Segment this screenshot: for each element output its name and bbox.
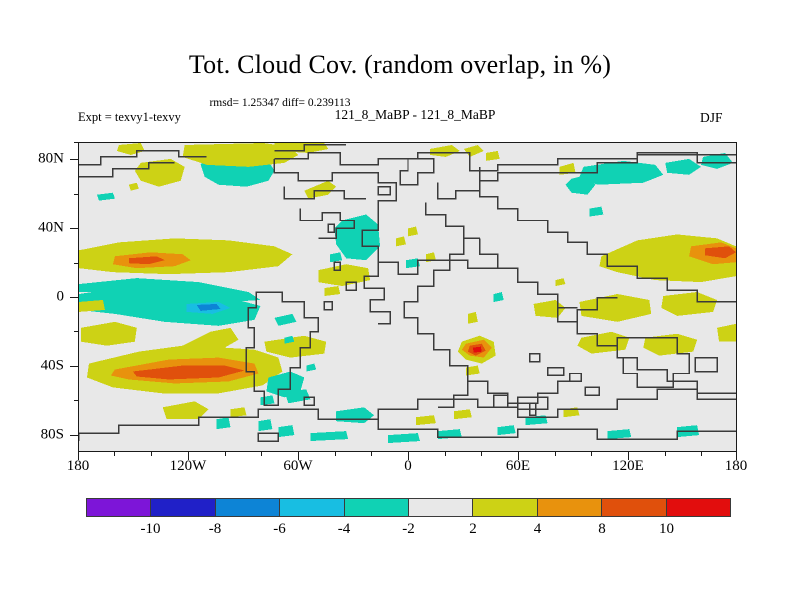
y-tick-label-40n: 40N (20, 220, 64, 237)
experiment-label: Expt = texvy1-texvy (78, 110, 181, 125)
x-tick-label-0: 0 (404, 458, 412, 475)
colorbar-segment-5 (409, 499, 473, 516)
colorbar-label-n4: -4 (338, 521, 351, 538)
colorbar-segment-4 (345, 499, 409, 516)
colorbar-segment-0 (87, 499, 151, 516)
colorbar-segment-9 (667, 499, 730, 516)
colorbar-segment-6 (473, 499, 537, 516)
colorbar-segment-3 (280, 499, 344, 516)
colorbar-label-n2: -2 (402, 521, 415, 538)
x-tick-label-60w: 60W (283, 458, 312, 475)
colorbar-label-p4: 4 (534, 521, 542, 538)
y-tick-label-80n: 80N (20, 151, 64, 168)
x-tick-label-60e: 60E (506, 458, 530, 475)
climate-difference-figure: Tot. Cloud Cov. (random overlap, in %) r… (0, 0, 800, 600)
colorbar-label-n8: -8 (209, 521, 222, 538)
y-tick-label-80s: 80S (20, 427, 64, 444)
map-canvas (79, 143, 736, 451)
colorbar-segment-8 (602, 499, 666, 516)
colorbar (86, 498, 731, 517)
season-label: DJF (700, 110, 723, 126)
page-title: Tot. Cloud Cov. (random overlap, in %) (0, 50, 800, 80)
y-tick-label-0: 0 (20, 289, 64, 306)
case-comparison-label: 121_8_MaBP - 121_8_MaBP (250, 107, 580, 123)
x-tick-label-120e: 120E (612, 458, 644, 475)
colorbar-label-p2: 2 (469, 521, 477, 538)
x-tick-label-180w: 180 (67, 458, 90, 475)
colorbar-segment-2 (216, 499, 280, 516)
colorbar-label-p8: 8 (598, 521, 606, 538)
colorbar-segment-1 (151, 499, 215, 516)
colorbar-label-p10: 10 (659, 521, 674, 538)
colorbar-segment-7 (538, 499, 602, 516)
y-tick-label-40s: 40S (20, 358, 64, 375)
colorbar-label-n6: -6 (273, 521, 286, 538)
map-plot-area (78, 142, 737, 452)
x-tick-label-180e: 180 (725, 458, 748, 475)
colorbar-label-n10: -10 (141, 521, 161, 538)
x-tick-label-120w: 120W (170, 458, 207, 475)
